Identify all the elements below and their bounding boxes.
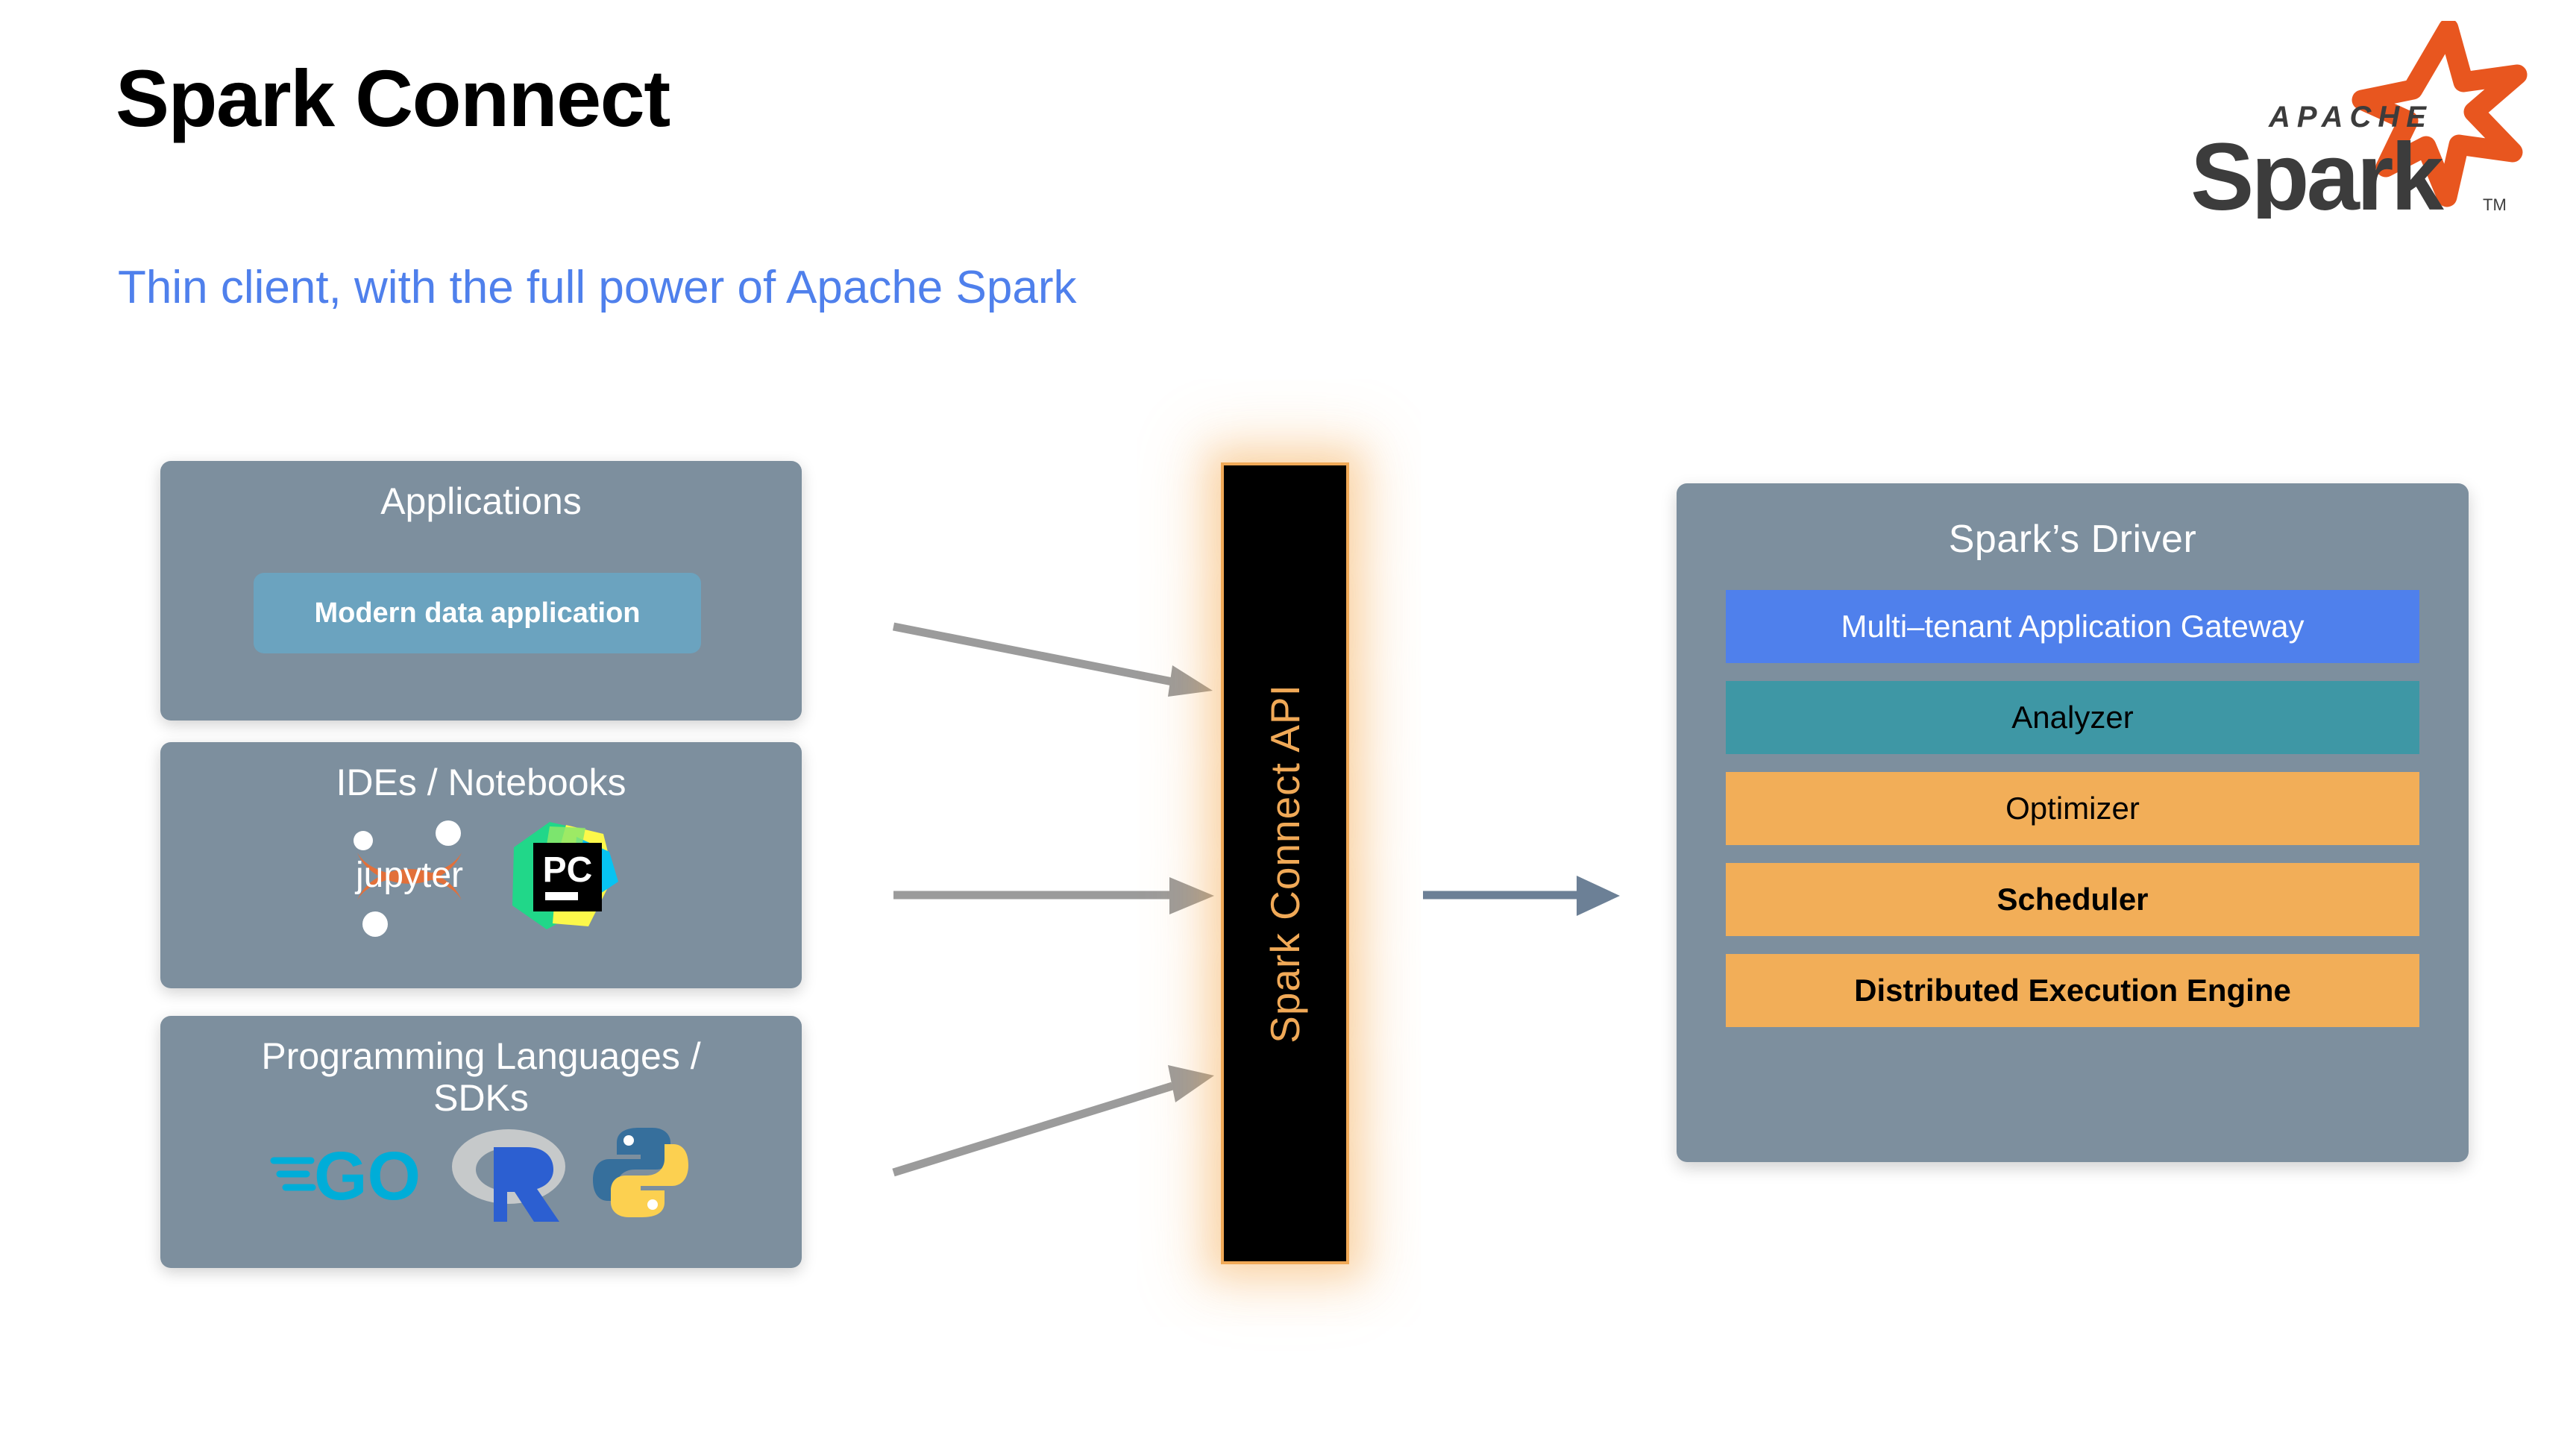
jupyter-logo: jupyter [338,814,480,944]
spark-connect-api-bar[interactable]: Spark Connect API [1221,462,1349,1264]
page-subtitle: Thin client, with the full power of Apac… [118,265,1076,311]
arrow-ides-to-api [888,865,1216,925]
spark-driver-title: Spark’s Driver [1677,483,2469,562]
ide-logo-row: jupyter PC [160,814,802,944]
apache-spark-logo: APACHE Spark TM [2162,21,2535,219]
spark-driver-panel[interactable]: Spark’s Driver Multi–tenant Application … [1677,483,2469,1162]
trademark-mark: TM [2483,195,2507,214]
python-logo [588,1120,693,1228]
driver-row-scheduler[interactable]: Scheduler [1726,863,2419,936]
pycharm-logo: PC [505,817,624,941]
spark-wordmark: Spark [2190,124,2445,219]
jupyter-label: jupyter [354,856,463,895]
page-title: Spark Connect [116,58,670,139]
client-card-title: IDEs / Notebooks [160,742,802,803]
r-logo [447,1120,571,1228]
client-card-title-line1: Programming Languages / [261,1035,700,1077]
pycharm-label: PC [543,850,593,890]
driver-component-stack: Multi–tenant Application Gateway Analyze… [1677,590,2469,1027]
go-label: GO [314,1138,421,1214]
arrow-languages-to-api [888,1059,1216,1178]
arrow-api-to-driver [1417,865,1641,925]
driver-row-gateway[interactable]: Multi–tenant Application Gateway [1726,590,2419,663]
modern-data-application-chip[interactable]: Modern data application [254,573,701,653]
client-card-programming-languages[interactable]: Programming Languages / SDKs GO [160,1016,802,1268]
driver-row-optimizer[interactable]: Optimizer [1726,772,2419,845]
driver-row-analyzer[interactable]: Analyzer [1726,681,2419,754]
client-card-title: Programming Languages / SDKs [160,1016,802,1119]
arrow-applications-to-api [888,619,1216,709]
driver-row-execution-engine[interactable]: Distributed Execution Engine [1726,954,2419,1027]
language-logo-row: GO [160,1120,802,1228]
go-logo: GO [269,1128,430,1221]
client-card-applications[interactable]: Applications Modern data application [160,461,802,721]
client-card-title: Applications [160,461,802,522]
client-card-title-line2: SDKs [433,1077,529,1119]
client-card-ides-notebooks[interactable]: IDEs / Notebooks jupyter PC [160,742,802,988]
spark-connect-api-label: Spark Connect API [1261,684,1309,1043]
